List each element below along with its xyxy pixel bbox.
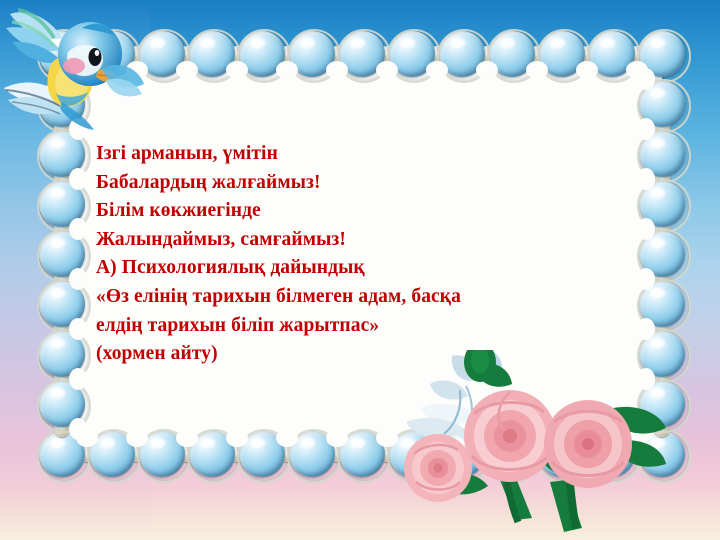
slide-text-line-7: елдің тарихын біліп жарытпас» — [96, 312, 566, 341]
slide-text-line-4: Жалындаймыз, самғаймыз! — [96, 226, 566, 255]
slide-text-line-2: Бабалардың жалғаймыз! — [96, 169, 566, 198]
slide-text-line-1: Ізгі арманын, үмітін — [96, 140, 566, 169]
cartoon-bird-icon — [2, 2, 150, 140]
rose-bouquet-decoration — [400, 350, 720, 540]
slide-text-block: Ізгі арманын, үмітінБабалардың жалғаймыз… — [96, 140, 566, 369]
slide-text-line-6: «Өз елінің тарихын білмеген адам, басқа — [96, 283, 566, 312]
slide-text-line-5: А) Психологиялық дайындық — [96, 254, 566, 283]
slide-text-line-3: Білім көкжиегінде — [96, 197, 566, 226]
slide-canvas: Ізгі арманын, үмітінБабалардың жалғаймыз… — [0, 0, 720, 540]
